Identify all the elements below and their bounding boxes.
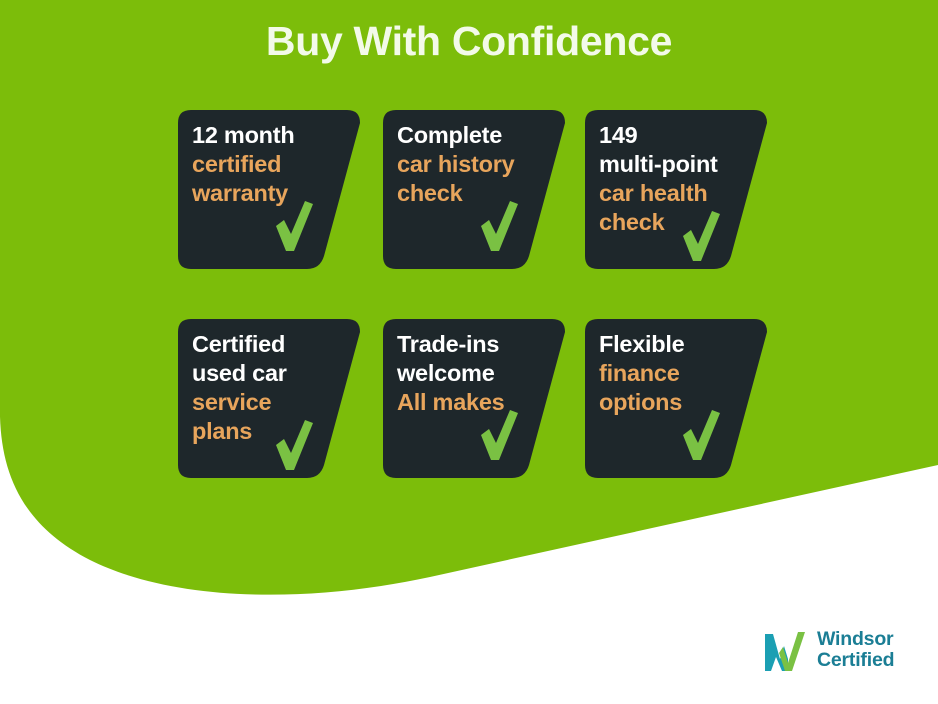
confidence-card-149-multi-point-car-health-check: 149multi-pointcar healthcheck [585, 110, 767, 269]
card-line: service [192, 388, 342, 417]
card-text: 149multi-pointcar healthcheck [599, 121, 749, 237]
confidence-card-certified-used-car-service-plans: Certifiedused carserviceplans [178, 319, 360, 478]
card-line: 12 month [192, 121, 342, 150]
windsor-certified-logo: Windsor Certified [762, 629, 894, 671]
card-line: check [397, 179, 547, 208]
confidence-card-flexible-finance-options: Flexiblefinanceoptions [585, 319, 767, 478]
card-line: options [599, 388, 749, 417]
windsor-w-logo-icon [762, 629, 808, 671]
card-line: car history [397, 150, 547, 179]
confidence-card-trade-ins-welcome-all-makes: Trade-inswelcomeAll makes [383, 319, 565, 478]
card-line: Flexible [599, 330, 749, 359]
card-line: warranty [192, 179, 342, 208]
card-text: Certifiedused carserviceplans [192, 330, 342, 446]
card-line: car health [599, 179, 749, 208]
logo-line-1: Windsor [817, 629, 894, 650]
card-text: Trade-inswelcomeAll makes [397, 330, 547, 417]
confidence-card-12-month-certified-warranty: 12 monthcertifiedwarranty [178, 110, 360, 269]
card-text: Completecar historycheck [397, 121, 547, 208]
card-line: check [599, 208, 749, 237]
card-line: finance [599, 359, 749, 388]
card-line: All makes [397, 388, 547, 417]
card-line: used car [192, 359, 342, 388]
page-title: Buy With Confidence [0, 18, 938, 65]
card-line: certified [192, 150, 342, 179]
confidence-card-complete-car-history-check: Completecar historycheck [383, 110, 565, 269]
card-line: welcome [397, 359, 547, 388]
logo-line-2: Certified [817, 650, 894, 671]
card-line: 149 [599, 121, 749, 150]
card-line: Complete [397, 121, 547, 150]
card-line: plans [192, 417, 342, 446]
card-text: 12 monthcertifiedwarranty [192, 121, 342, 208]
card-line: Trade-ins [397, 330, 547, 359]
card-text: Flexiblefinanceoptions [599, 330, 749, 417]
promo-banner: Buy With Confidence 12 monthcertifiedwar… [0, 0, 938, 704]
card-line: multi-point [599, 150, 749, 179]
card-line: Certified [192, 330, 342, 359]
